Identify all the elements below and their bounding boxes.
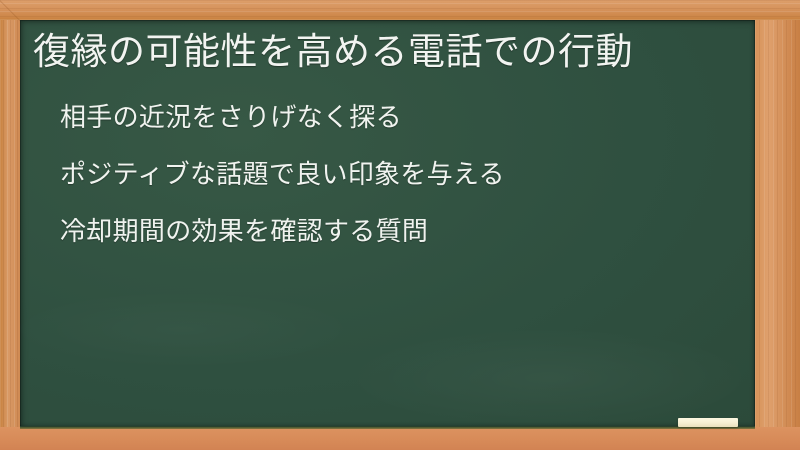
- list-item: 相手の近況をさりげなく探る: [60, 104, 505, 132]
- frame-bottom-ledge: [0, 427, 800, 450]
- frame-right-stile: [755, 0, 800, 450]
- board-ledge-shadow: [20, 426, 755, 429]
- chalk-stick-icon: [678, 418, 738, 427]
- list-item: ポジティブな話題で良い印象を与える: [60, 161, 505, 189]
- slide-title: 復縁の可能性を高める電話での行動: [33, 30, 633, 74]
- chalkboard-slide: 復縁の可能性を高める電話での行動 相手の近況をさりげなく探る ポジティブな話題で…: [0, 0, 800, 450]
- chalkboard-content: 復縁の可能性を高める電話での行動 相手の近況をさりげなく探る ポジティブな話題で…: [20, 20, 755, 427]
- frame-top-rail: [0, 0, 800, 20]
- bullet-list: 相手の近況をさりげなく探る ポジティブな話題で良い印象を与える 冷却期間の効果を…: [60, 104, 505, 245]
- chalkboard-surface: 復縁の可能性を高める電話での行動 相手の近況をさりげなく探る ポジティブな話題で…: [20, 20, 755, 427]
- list-item: 冷却期間の効果を確認する質問: [60, 218, 505, 246]
- frame-left-stile: [0, 0, 20, 450]
